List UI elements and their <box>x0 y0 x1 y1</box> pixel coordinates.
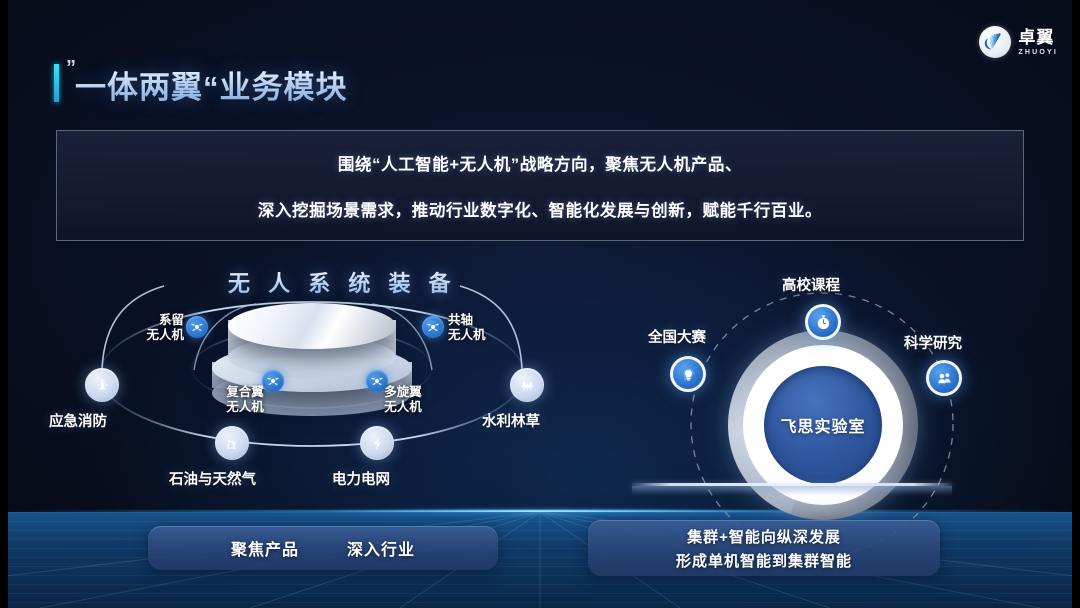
drone-label-line2: 无人机 <box>214 400 276 415</box>
slide-canvas: ” 一体两翼“业务模块 卓翼 ZHUOYI 围绕“人工智能+无人机”战略 <box>0 0 1080 608</box>
bottom-bar-left[interactable]: 聚焦产品 深入行业 <box>148 526 498 570</box>
lab-platform-shadow <box>632 486 952 496</box>
lab-node-national-competition[interactable]: 全国大赛 <box>670 356 706 392</box>
drone-label-line2: 无人机 <box>372 400 434 415</box>
industry-node-oil-gas[interactable]: 石油与天然气 <box>215 426 249 460</box>
fan-wing-logo-icon <box>979 26 1011 58</box>
title-quote-mark: ” <box>66 58 74 78</box>
stopwatch-icon <box>805 304 841 340</box>
industry-label: 应急消防 <box>49 410 107 431</box>
bottom-right-line-1: 集群+智能向纵深发展 <box>687 526 841 547</box>
unmanned-systems-diagram: 无 人 系 统 装 备 <box>60 258 600 508</box>
drone-node-multirotor[interactable]: 多旋翼 无人机 <box>366 370 388 392</box>
banner-line-1: 围绕“人工智能+无人机”战略方向，聚焦无人机产品、 <box>338 151 742 175</box>
bottom-left-item-2: 深入行业 <box>347 536 415 560</box>
brand-name-cn: 卓翼 <box>1018 29 1058 46</box>
drone-label-line2: 无人机 <box>448 328 498 343</box>
right-black-edge <box>1072 0 1080 608</box>
strategy-banner: 围绕“人工智能+无人机”战略方向，聚焦无人机产品、 深入挖掘场景需求，推动行业数… <box>56 130 1024 241</box>
brand-name-en: ZHUOYI <box>1018 49 1058 56</box>
industry-label: 石油与天然气 <box>169 468 256 489</box>
industry-node-water-forest[interactable]: 水利林草 <box>510 368 544 402</box>
drone-label-line1: 共轴 <box>448 313 498 328</box>
brand-logo-text: 卓翼 ZHUOYI <box>1018 29 1058 56</box>
lab-platform-line <box>632 483 952 486</box>
brand-logo: 卓翼 ZHUOYI <box>979 26 1058 58</box>
title-accent-bar <box>54 64 59 102</box>
lightning-bolt-icon <box>360 426 394 460</box>
drone-label-line1: 复合翼 <box>214 385 276 400</box>
bottom-right-line-2: 形成单机智能到集群智能 <box>676 550 852 571</box>
banner-line-2: 深入挖掘场景需求，推动行业数字化、智能化发展与创新，赋能千行百业。 <box>258 197 822 221</box>
drone-icon <box>186 316 208 338</box>
lab-node-label: 科学研究 <box>904 332 962 353</box>
lab-node-label: 全国大赛 <box>648 326 706 347</box>
lab-node-label: 高校课程 <box>782 274 840 295</box>
drone-label-line2: 无人机 <box>140 328 184 343</box>
drone-node-hybrid-wing[interactable]: 复合翼 无人机 <box>262 370 284 392</box>
lab-core-label: 飞思实验室 <box>780 413 865 437</box>
page-title: 一体两翼“业务模块 <box>75 62 348 107</box>
page-title-group: ” 一体两翼“业务模块 <box>54 60 348 107</box>
bottom-bar-right[interactable]: 集群+智能向纵深发展 形成单机智能到集群智能 <box>588 520 940 576</box>
industry-label: 水利林草 <box>482 410 540 431</box>
podium-disc-top <box>228 303 396 349</box>
forest-trees-icon <box>510 368 544 402</box>
oil-pump-icon <box>215 426 249 460</box>
slide-header: ” 一体两翼“业务模块 卓翼 ZHUOYI <box>0 0 1080 118</box>
drone-label-line1: 多旋翼 <box>372 385 434 400</box>
people-group-icon <box>926 360 962 396</box>
industry-label: 电力电网 <box>332 468 390 489</box>
left-black-edge <box>0 0 8 608</box>
lab-node-scientific-research[interactable]: 科学研究 <box>926 360 962 396</box>
drone-node-coaxial[interactable]: 共轴 无人机 <box>422 316 444 338</box>
drone-icon <box>422 316 444 338</box>
feisi-lab-diagram: 飞思实验室 全国大赛 <box>630 268 1050 518</box>
drone-label-line1: 系留 <box>140 313 184 328</box>
industry-node-power-grid[interactable]: 电力电网 <box>360 426 394 460</box>
lab-node-university-course[interactable]: 高校课程 <box>805 304 841 340</box>
head-idea-icon <box>670 356 706 392</box>
lab-core-circle: 飞思实验室 <box>764 366 882 484</box>
bottom-left-item-1: 聚焦产品 <box>231 536 299 560</box>
drone-node-tethered[interactable]: 系留 无人机 <box>186 316 208 338</box>
industry-node-emergency-fire[interactable]: 应急消防 <box>85 368 119 402</box>
fire-hydrant-icon <box>85 368 119 402</box>
